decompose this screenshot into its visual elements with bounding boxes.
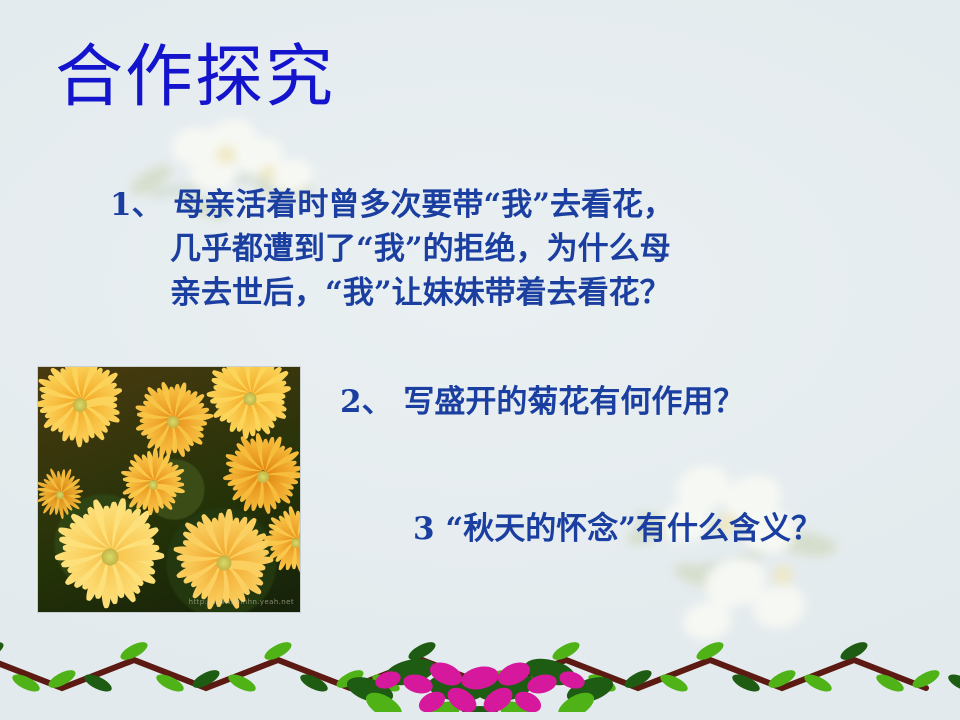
chrysanthemum-photo: http://www.mmhn.yeah.net (38, 367, 300, 612)
question-2: 2、 写盛开的菊花有何作用？ (340, 381, 744, 423)
photo-watermark-text: http://www.mmhn.yeah.net (189, 598, 294, 606)
flower-bloom (133, 382, 213, 462)
slide-canvas: 合作探究 1、 母亲活着时曾多次要带“我”去看花， 几乎都遭到了“我”的拒绝，为… (0, 0, 960, 720)
question-1-line-2: 几乎都遭到了“我”的拒绝，为什么母 (110, 227, 674, 271)
question-3-line-1: 3 “秋天的怀念”有什么含义？ (413, 508, 822, 550)
question-1: 1、 母亲活着时曾多次要带“我”去看花， 几乎都遭到了“我”的拒绝，为什么母 亲… (110, 183, 674, 315)
flower-bloom (172, 511, 276, 612)
question-1-line-1: 1、 母亲活着时曾多次要带“我”去看花， (110, 183, 674, 227)
flower-bloom (119, 451, 187, 519)
question-2-line-1: 2、 写盛开的菊花有何作用？ (340, 381, 744, 423)
vine-leaf (946, 671, 960, 695)
question-3: 3 “秋天的怀念”有什么含义？ (413, 508, 822, 550)
vine-leaf (0, 639, 6, 664)
bottom-vine-border (0, 638, 960, 712)
flower-watermark-bottom-icon (625, 462, 855, 652)
question-1-line-3: 亲去世后，“我”让妹妹带着去看花？ (110, 271, 674, 315)
page-title: 合作探究 (55, 38, 335, 118)
